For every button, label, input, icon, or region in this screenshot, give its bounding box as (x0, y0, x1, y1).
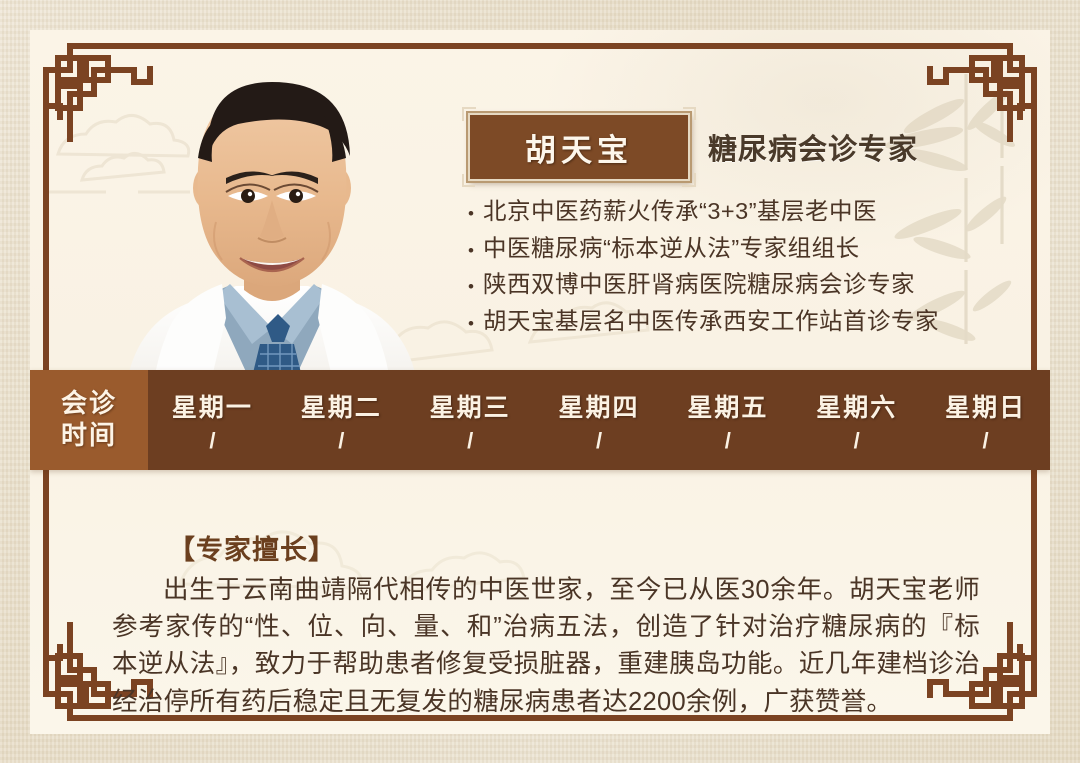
expert-name: 胡天宝 (525, 125, 633, 170)
cloud-watermark-left (38, 96, 268, 216)
schedule-days: 星期一 / 星期二 / 星期三 / 星期四 / 星期五 / (148, 370, 1050, 470)
frame-rail-top (158, 43, 922, 49)
schedule-day-friday[interactable]: 星期五 / (663, 370, 792, 470)
schedule-label-line1: 会诊 (61, 388, 117, 420)
bullet-dot-icon: • (468, 315, 479, 332)
credential-item: • 北京中医药薪火传承“3+3”基层老中医 (468, 200, 1028, 224)
day-value: / (725, 430, 731, 452)
day-name: 星期三 (430, 388, 511, 424)
name-plaque: 胡天宝 (468, 113, 690, 181)
doctor-portrait (102, 72, 442, 402)
day-name: 星期六 (816, 388, 897, 424)
day-name: 星期二 (301, 388, 382, 424)
day-value: / (854, 430, 860, 452)
specialty-section: 【专家擅长】 出生于云南曲靖隔代相传的中医世家，至今已从医30余年。胡天宝老师参… (30, 470, 1050, 734)
day-name: 星期五 (687, 388, 768, 424)
schedule-day-monday[interactable]: 星期一 / (148, 370, 277, 470)
page-background: 胡天宝 糖尿病会诊专家 • 北京中医药薪火传承“3+3”基层老中医 • 中医糖尿… (0, 0, 1080, 763)
bullet-dot-icon: • (468, 205, 479, 222)
expert-subtitle: 糖尿病会诊专家 (708, 126, 918, 168)
schedule-day-thursday[interactable]: 星期四 / (535, 370, 664, 470)
credential-item: • 胡天宝基层名中医传承西安工作站首诊专家 (468, 310, 1028, 334)
profile-card: 胡天宝 糖尿病会诊专家 • 北京中医药薪火传承“3+3”基层老中医 • 中医糖尿… (30, 30, 1050, 734)
specialty-heading: 【专家擅长】 (168, 528, 336, 567)
credentials-list: • 北京中医药薪火传承“3+3”基层老中医 • 中医糖尿病“标本逆从法”专家组组… (468, 200, 1028, 333)
schedule-day-wednesday[interactable]: 星期三 / (406, 370, 535, 470)
day-value: / (596, 430, 602, 452)
day-name: 星期四 (559, 388, 640, 424)
day-name: 星期一 (172, 388, 253, 424)
credential-item: • 中医糖尿病“标本逆从法”专家组组长 (468, 237, 1028, 261)
corner-ornament-top-left (30, 30, 166, 166)
schedule-day-tuesday[interactable]: 星期二 / (277, 370, 406, 470)
plaque-corner-top-right (683, 107, 696, 120)
day-value: / (983, 430, 989, 452)
day-value: / (209, 430, 215, 452)
specialty-text: 出生于云南曲靖隔代相传的中医世家，至今已从医30余年。胡天宝老师参考家传的“性、… (112, 572, 980, 721)
schedule-label: 会诊 时间 (30, 370, 148, 470)
title-row: 胡天宝 糖尿病会诊专家 (468, 108, 1028, 186)
schedule-label-line2: 时间 (61, 420, 117, 452)
credential-text: 中医糖尿病“标本逆从法”专家组组长 (483, 237, 860, 261)
bullet-dot-icon: • (468, 278, 479, 295)
bullet-dot-icon: • (468, 242, 479, 259)
day-name: 星期日 (945, 388, 1026, 424)
credential-text: 北京中医药薪火传承“3+3”基层老中医 (483, 200, 877, 224)
day-value: / (467, 430, 473, 452)
day-value: / (338, 430, 344, 452)
consultation-schedule-bar: 会诊 时间 星期一 / 星期二 / 星期三 / 星期四 / (30, 370, 1050, 470)
schedule-day-saturday[interactable]: 星期六 / (792, 370, 921, 470)
schedule-day-sunday[interactable]: 星期日 / (921, 370, 1050, 470)
credential-item: • 陕西双博中医肝肾病医院糖尿病会诊专家 (468, 273, 1028, 297)
credential-text: 陕西双博中医肝肾病医院糖尿病会诊专家 (483, 273, 915, 297)
header-column: 胡天宝 糖尿病会诊专家 • 北京中医药薪火传承“3+3”基层老中医 • 中医糖尿… (468, 108, 1028, 346)
plaque-corner-bottom-left (462, 174, 475, 187)
credential-text: 胡天宝基层名中医传承西安工作站首诊专家 (483, 310, 939, 334)
